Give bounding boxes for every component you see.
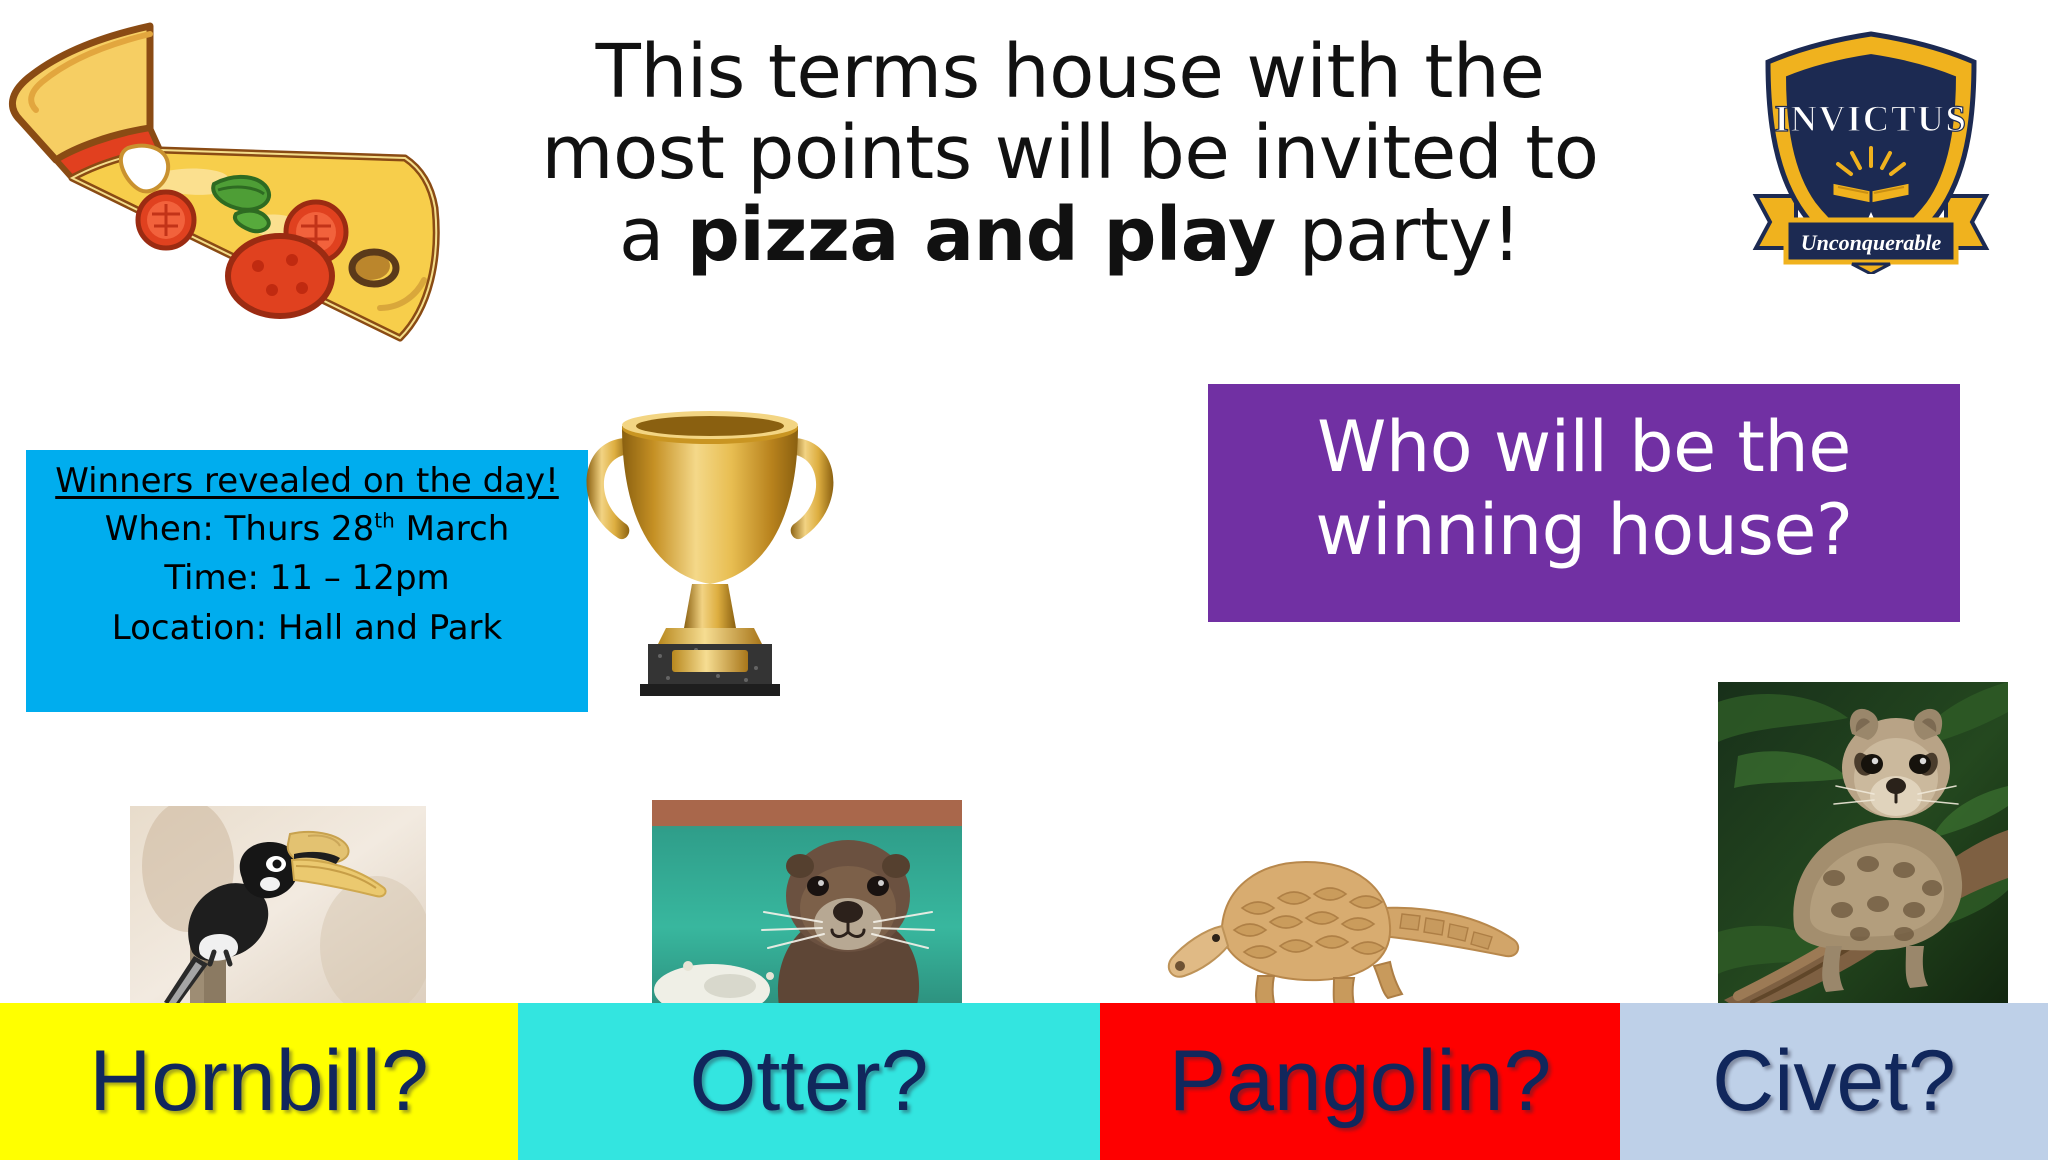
event-when-text: When: Thurs 28: [105, 509, 375, 549]
hornbill-photo: [130, 806, 426, 1011]
otter-photo: [652, 800, 962, 1012]
event-when-ordinal: th: [374, 509, 395, 533]
civet-photo: [1718, 682, 2008, 1010]
trophy-icon: [560, 378, 860, 698]
house-label-civet: Civet?: [1712, 1032, 1956, 1131]
slide-canvas: This terms house with the most points wi…: [0, 0, 2048, 1160]
event-time-line: Time: 11 – 12pm: [26, 554, 588, 603]
house-label-otter: Otter?: [690, 1032, 929, 1131]
event-location-line: Location: Hall and Park: [26, 604, 588, 653]
svg-text:Unconquerable: Unconquerable: [1801, 230, 1942, 255]
house-label-pangolin: Pangolin?: [1169, 1032, 1552, 1131]
pizza-slice-icon: [0, 8, 470, 358]
house-banner-otter[interactable]: Otter?: [518, 1003, 1100, 1160]
headline-line-1: This terms house with the: [480, 32, 1660, 113]
event-when-month: March: [395, 509, 509, 549]
event-details-box: Winners revealed on the day! When: Thurs…: [26, 450, 588, 712]
headline-line-3: a pizza and play party!: [480, 195, 1660, 276]
headline-line3-prefix: a: [619, 192, 687, 278]
headline-line3-suffix: party!: [1276, 192, 1521, 278]
winning-house-question-box: Who will be the winning house?: [1208, 384, 1960, 622]
invictus-logo-icon: INVICTUS Unconquerable: [1752, 26, 1990, 274]
event-when-line: When: Thurs 28th March: [26, 505, 588, 554]
svg-text:INVICTUS: INVICTUS: [1775, 99, 1968, 140]
headline-line3-bold: pizza and play: [687, 192, 1276, 278]
house-banner-pangolin[interactable]: Pangolin?: [1100, 1003, 1620, 1160]
house-banner-civet[interactable]: Civet?: [1620, 1003, 2048, 1160]
house-banner-hornbill[interactable]: Hornbill?: [0, 1003, 518, 1160]
headline-line-2: most points will be invited to: [480, 113, 1660, 194]
page-title: This terms house with the most points wi…: [480, 32, 1660, 276]
event-details-title: Winners revealed on the day!: [26, 458, 588, 505]
question-line-1: Who will be the: [1226, 406, 1942, 489]
pangolin-photo: [1110, 830, 1530, 1015]
house-label-hornbill: Hornbill?: [89, 1032, 428, 1131]
question-line-2: winning house?: [1226, 489, 1942, 572]
